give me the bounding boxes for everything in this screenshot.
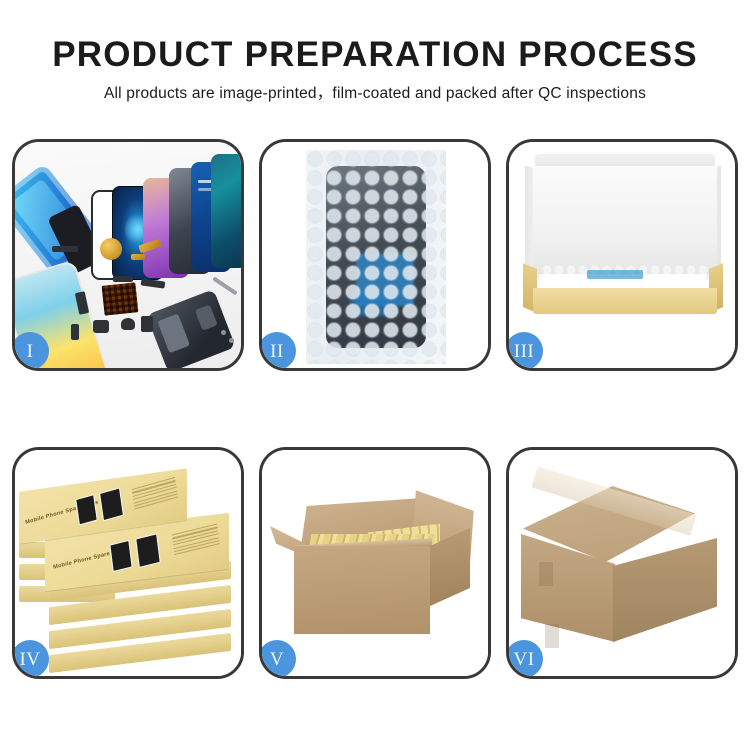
product-preparation-process-page: PRODUCT PREPARATION PROCESS All products… (0, 0, 750, 750)
process-step-panel-4: Mobile Phone Spare Parts Mobile Phone Sp… (12, 447, 244, 679)
teal-phone (211, 154, 241, 268)
bubble-texture (306, 150, 446, 364)
screw-part-1 (221, 330, 226, 335)
sim-tray-part (71, 324, 79, 340)
screw-part-2 (229, 338, 234, 343)
step-badge-3: III (509, 332, 543, 368)
box-screen-graphic-1 (75, 494, 98, 525)
step-6-image: VI (509, 450, 735, 676)
page-title: PRODUCT PREPARATION PROCESS (0, 37, 750, 72)
item-blue-label (587, 270, 643, 279)
camera-module-part (93, 320, 109, 333)
page-header: PRODUCT PREPARATION PROCESS All products… (0, 0, 750, 102)
process-step-panel-3: III (506, 139, 738, 371)
earpiece-part (141, 278, 166, 288)
tweezers-tool (212, 277, 237, 296)
speaker-part (100, 238, 122, 260)
antenna-flex-part (113, 276, 133, 282)
box-stack: Mobile Phone Spare Parts Mobile Phone Sp… (19, 468, 235, 660)
process-step-grid: I II (12, 139, 738, 679)
box-screen-graphic-3 (109, 540, 132, 572)
step-3-image: III (509, 142, 735, 368)
phone-back-housing (146, 289, 235, 368)
step-5-image: V (262, 450, 488, 676)
process-step-panel-1: I (12, 139, 244, 371)
step-badge-5: V (262, 640, 296, 676)
mailer-front-panel (533, 288, 717, 314)
step-4-image: Mobile Phone Spare Parts Mobile Phone Sp… (15, 450, 241, 676)
page-subtitle: All products are image-printed，film-coat… (0, 86, 750, 102)
process-step-panel-6: VI (506, 447, 738, 679)
battery-connector-part (141, 316, 153, 332)
vibrator-part (121, 318, 135, 330)
carton-hand-hole-2 (545, 624, 559, 648)
step-badge-4: IV (15, 640, 49, 676)
step-badge-6: VI (509, 640, 543, 676)
flex-cable-part-3 (131, 254, 145, 260)
step-badge-2: II (262, 332, 296, 368)
box-screen-graphic-2 (99, 487, 124, 521)
flex-cable-part-1 (52, 246, 78, 252)
process-step-panel-2: II (259, 139, 491, 371)
connector-grid-part (102, 282, 139, 315)
bubble-wrap-bag (306, 150, 446, 364)
carton-front-face (294, 546, 430, 634)
carton-hand-hole-1 (539, 562, 553, 586)
step-1-image: I (15, 142, 241, 368)
box-screen-graphic-4 (135, 533, 160, 568)
process-step-panel-5: V (259, 447, 491, 679)
box-spec-lines-2 (172, 523, 221, 557)
sealed-carton-right-face (613, 538, 717, 642)
box-spec-lines-1 (132, 477, 179, 512)
mailer-inner-back-wall (533, 166, 717, 274)
step-2-image: II (262, 142, 488, 368)
step-badge-1: I (15, 332, 49, 368)
